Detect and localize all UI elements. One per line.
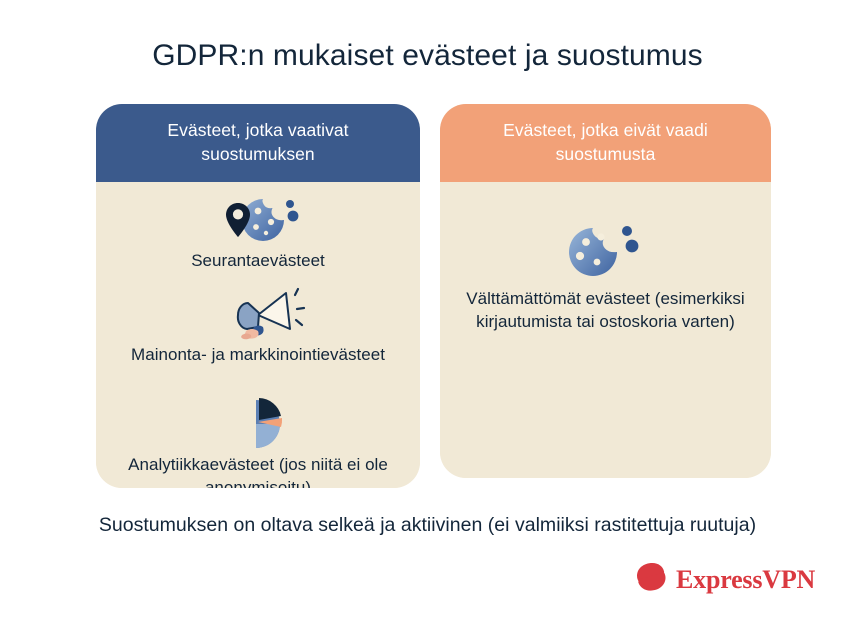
page-title: GDPR:n mukaiset evästeet ja suostumus	[0, 38, 855, 74]
card-requires-consent-header: Evästeet, jotka vaativat suostumuksen	[96, 104, 420, 182]
cookie-icon	[440, 224, 771, 280]
card-no-consent-required-header: Evästeet, jotka eivät vaadi suostumusta	[440, 104, 771, 182]
card-no-consent-required-body: Välttämättömät evästeet (esimerkiksi kir…	[440, 182, 771, 478]
expressvpn-e-mark-icon	[634, 562, 668, 597]
entry-advertising-cookies: Mainonta- ja markkinointievästeet	[96, 288, 420, 366]
footer-note: Suostumuksen on oltava selkeä ja aktiivi…	[0, 512, 855, 538]
megaphone-icon	[96, 288, 420, 340]
entry-tracking-cookies: Seurantaevästeet	[96, 194, 420, 272]
card-requires-consent: Evästeet, jotka vaativat suostumuksen	[96, 104, 420, 488]
infographic-page: GDPR:n mukaiset evästeet ja suostumus Ev…	[0, 0, 855, 621]
entry-analytics-cookies: Analytiikkaevästeet (jos niitä ei ole an…	[96, 398, 420, 488]
card-requires-consent-body: Seurantaevästeet	[96, 182, 420, 488]
expressvpn-wordmark: ExpressVPN	[676, 567, 815, 593]
entry-advertising-cookies-label: Mainonta- ja markkinointievästeet	[96, 344, 420, 366]
pie-chart-icon	[96, 398, 420, 450]
entry-essential-cookies: Välttämättömät evästeet (esimerkiksi kir…	[440, 224, 771, 334]
expressvpn-logo: ExpressVPN	[634, 562, 815, 597]
tracking-cookie-icon	[96, 194, 420, 246]
entry-essential-cookies-label: Välttämättömät evästeet (esimerkiksi kir…	[440, 288, 771, 334]
entry-analytics-cookies-label: Analytiikkaevästeet (jos niitä ei ole an…	[96, 454, 420, 488]
entry-tracking-cookies-label: Seurantaevästeet	[96, 250, 420, 272]
card-no-consent-required: Evästeet, jotka eivät vaadi suostumusta	[440, 104, 771, 478]
